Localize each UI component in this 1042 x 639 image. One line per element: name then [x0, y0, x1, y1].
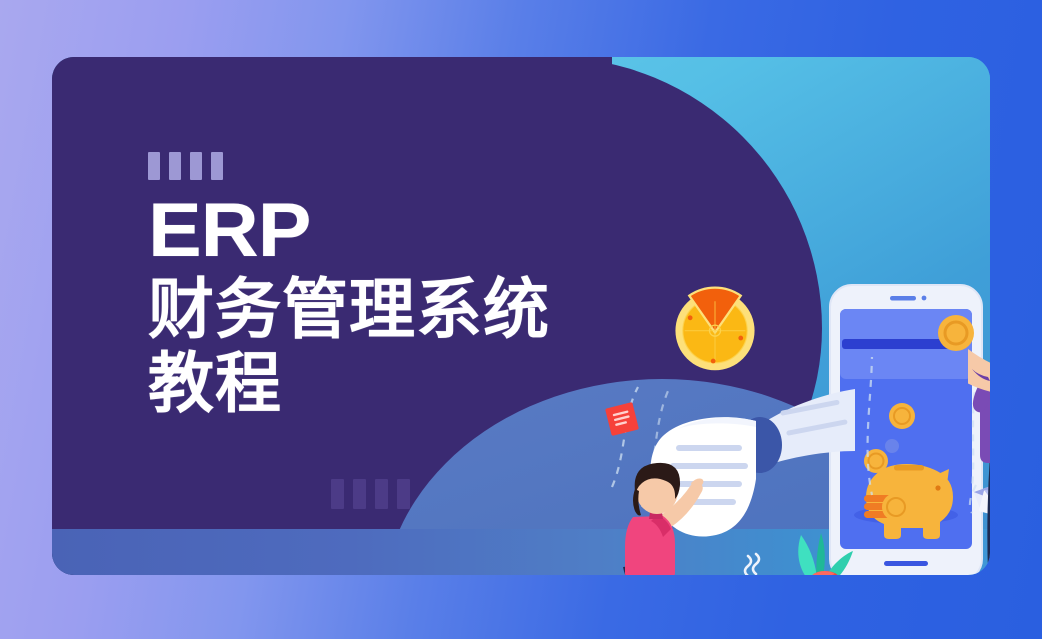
pie-chart-icon: [669, 281, 761, 373]
headline-line-erp: ERP: [148, 193, 574, 269]
decor-bar: [353, 479, 366, 509]
headline-line-system: 财务管理系统: [148, 273, 550, 347]
decor-bar: [169, 152, 181, 180]
decor-bar: [148, 152, 160, 180]
decor-bars-top-left: [148, 152, 223, 180]
gold-coin: [936, 313, 976, 353]
headline-line-tutorial: 教程: [148, 347, 550, 421]
decor-bar: [190, 152, 202, 180]
red-sticky-note: [605, 402, 639, 436]
banner-card: ERP 财务管理系统 教程: [52, 57, 990, 575]
seated-person-pink-shirt: [615, 455, 725, 575]
decor-bar: [211, 152, 223, 180]
erp-course-banner: ERP 财务管理系统 教程: [0, 0, 1042, 639]
decor-bar: [331, 479, 344, 509]
decor-bar: [397, 479, 410, 509]
banner-headline: ERP 财务管理系统 教程: [148, 193, 550, 421]
decor-bar: [375, 479, 388, 509]
coffee-cup-icon: [724, 552, 782, 575]
decor-bars-mid-left: [331, 479, 410, 509]
